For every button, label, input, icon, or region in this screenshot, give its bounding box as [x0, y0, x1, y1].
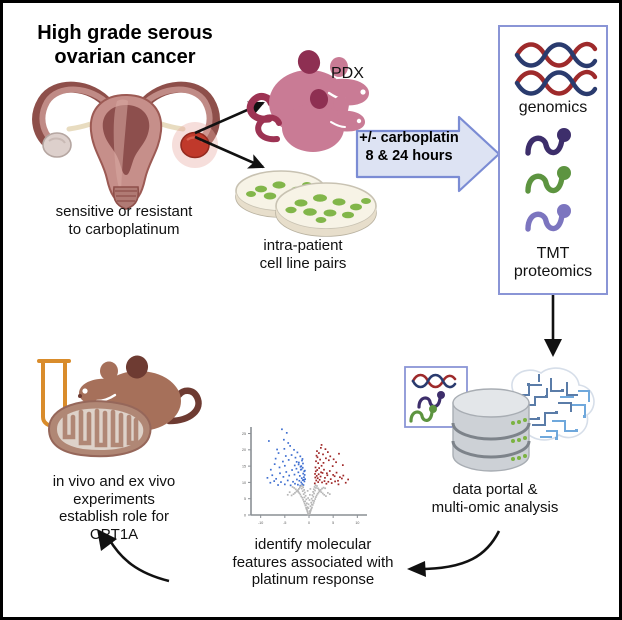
tmt-line-2: proteomics — [500, 263, 606, 281]
portal-caption-line-2: multi-omic analysis — [385, 499, 605, 517]
data-portal-illustration — [401, 361, 607, 479]
invivo-caption-line-4: CPT1A — [21, 526, 207, 544]
tumor-caption: sensitive or resistant to carboplatinum — [15, 203, 233, 238]
cell-caption-line-1: intra-patient — [218, 237, 388, 255]
tmt-line-1: TMT — [500, 245, 606, 263]
tumor-caption-line-2: to carboplatinum — [15, 221, 233, 239]
invivo-caption-line-2: experiments — [21, 491, 207, 509]
treatment-line-2: 8 & 24 hours — [359, 147, 459, 165]
svg-text:25: 25 — [242, 432, 246, 436]
invivo-caption: in vivo and ex vivo experiments establis… — [21, 473, 207, 544]
graphical-abstract-figure: High grade serous ovarian cancer sensi — [0, 0, 622, 620]
svg-text:0: 0 — [244, 513, 246, 517]
treatment-label: +/- carboplatin 8 & 24 hours — [359, 129, 459, 165]
pdx-label: PDX — [331, 65, 364, 83]
invivo-caption-line-3: establish role for — [21, 508, 207, 526]
svg-text:0: 0 — [308, 521, 310, 525]
title-line-2: ovarian cancer — [17, 45, 233, 69]
dna-double-helix-icon — [509, 35, 601, 97]
svg-text:15: 15 — [242, 465, 246, 469]
omics-panel: genomics TMT proteomics — [498, 25, 608, 295]
invivo-caption-line-1: in vivo and ex vivo — [21, 473, 207, 491]
mitochondrion-icon — [49, 401, 151, 456]
cell-lines-caption: intra-patient cell line pairs — [218, 237, 388, 272]
data-portal-caption: data portal & multi-omic analysis — [385, 481, 605, 516]
svg-text:5: 5 — [332, 521, 334, 525]
tumor-caption-line-1: sensitive or resistant — [15, 203, 233, 221]
genomics-label: genomics — [500, 99, 606, 117]
title-line-1: High grade serous — [17, 21, 233, 45]
treatment-line-1: +/- carboplatin — [359, 129, 459, 147]
protein-squiggle-icon — [522, 123, 588, 239]
portal-caption-line-1: data portal & — [385, 481, 605, 499]
svg-text:10: 10 — [242, 481, 246, 485]
svg-text:5: 5 — [244, 497, 246, 501]
svg-text:-5: -5 — [283, 521, 286, 525]
invivo-experiments-illustration — [19, 355, 225, 467]
volcano-caption-line-1: identify molecular — [207, 536, 419, 554]
volcano-caption-line-3: platinum response — [207, 571, 419, 589]
portal-to-volcano-arrow — [395, 525, 505, 587]
cell-caption-line-2: cell line pairs — [218, 255, 388, 273]
database-cylinder-icon — [453, 389, 529, 471]
volcano-plot-icon: 0510152025-10-50510 — [221, 421, 373, 533]
svg-text:10: 10 — [355, 521, 359, 525]
svg-text:20: 20 — [242, 448, 246, 452]
tmt-proteomics-label: TMT proteomics — [500, 245, 606, 282]
volcano-caption: identify molecular features associated w… — [207, 536, 419, 589]
volcano-caption-line-2: features associated with — [207, 554, 419, 572]
svg-text:-10: -10 — [258, 521, 263, 525]
page-title: High grade serous ovarian cancer — [17, 21, 233, 70]
omics-to-portal-arrow — [535, 295, 571, 359]
